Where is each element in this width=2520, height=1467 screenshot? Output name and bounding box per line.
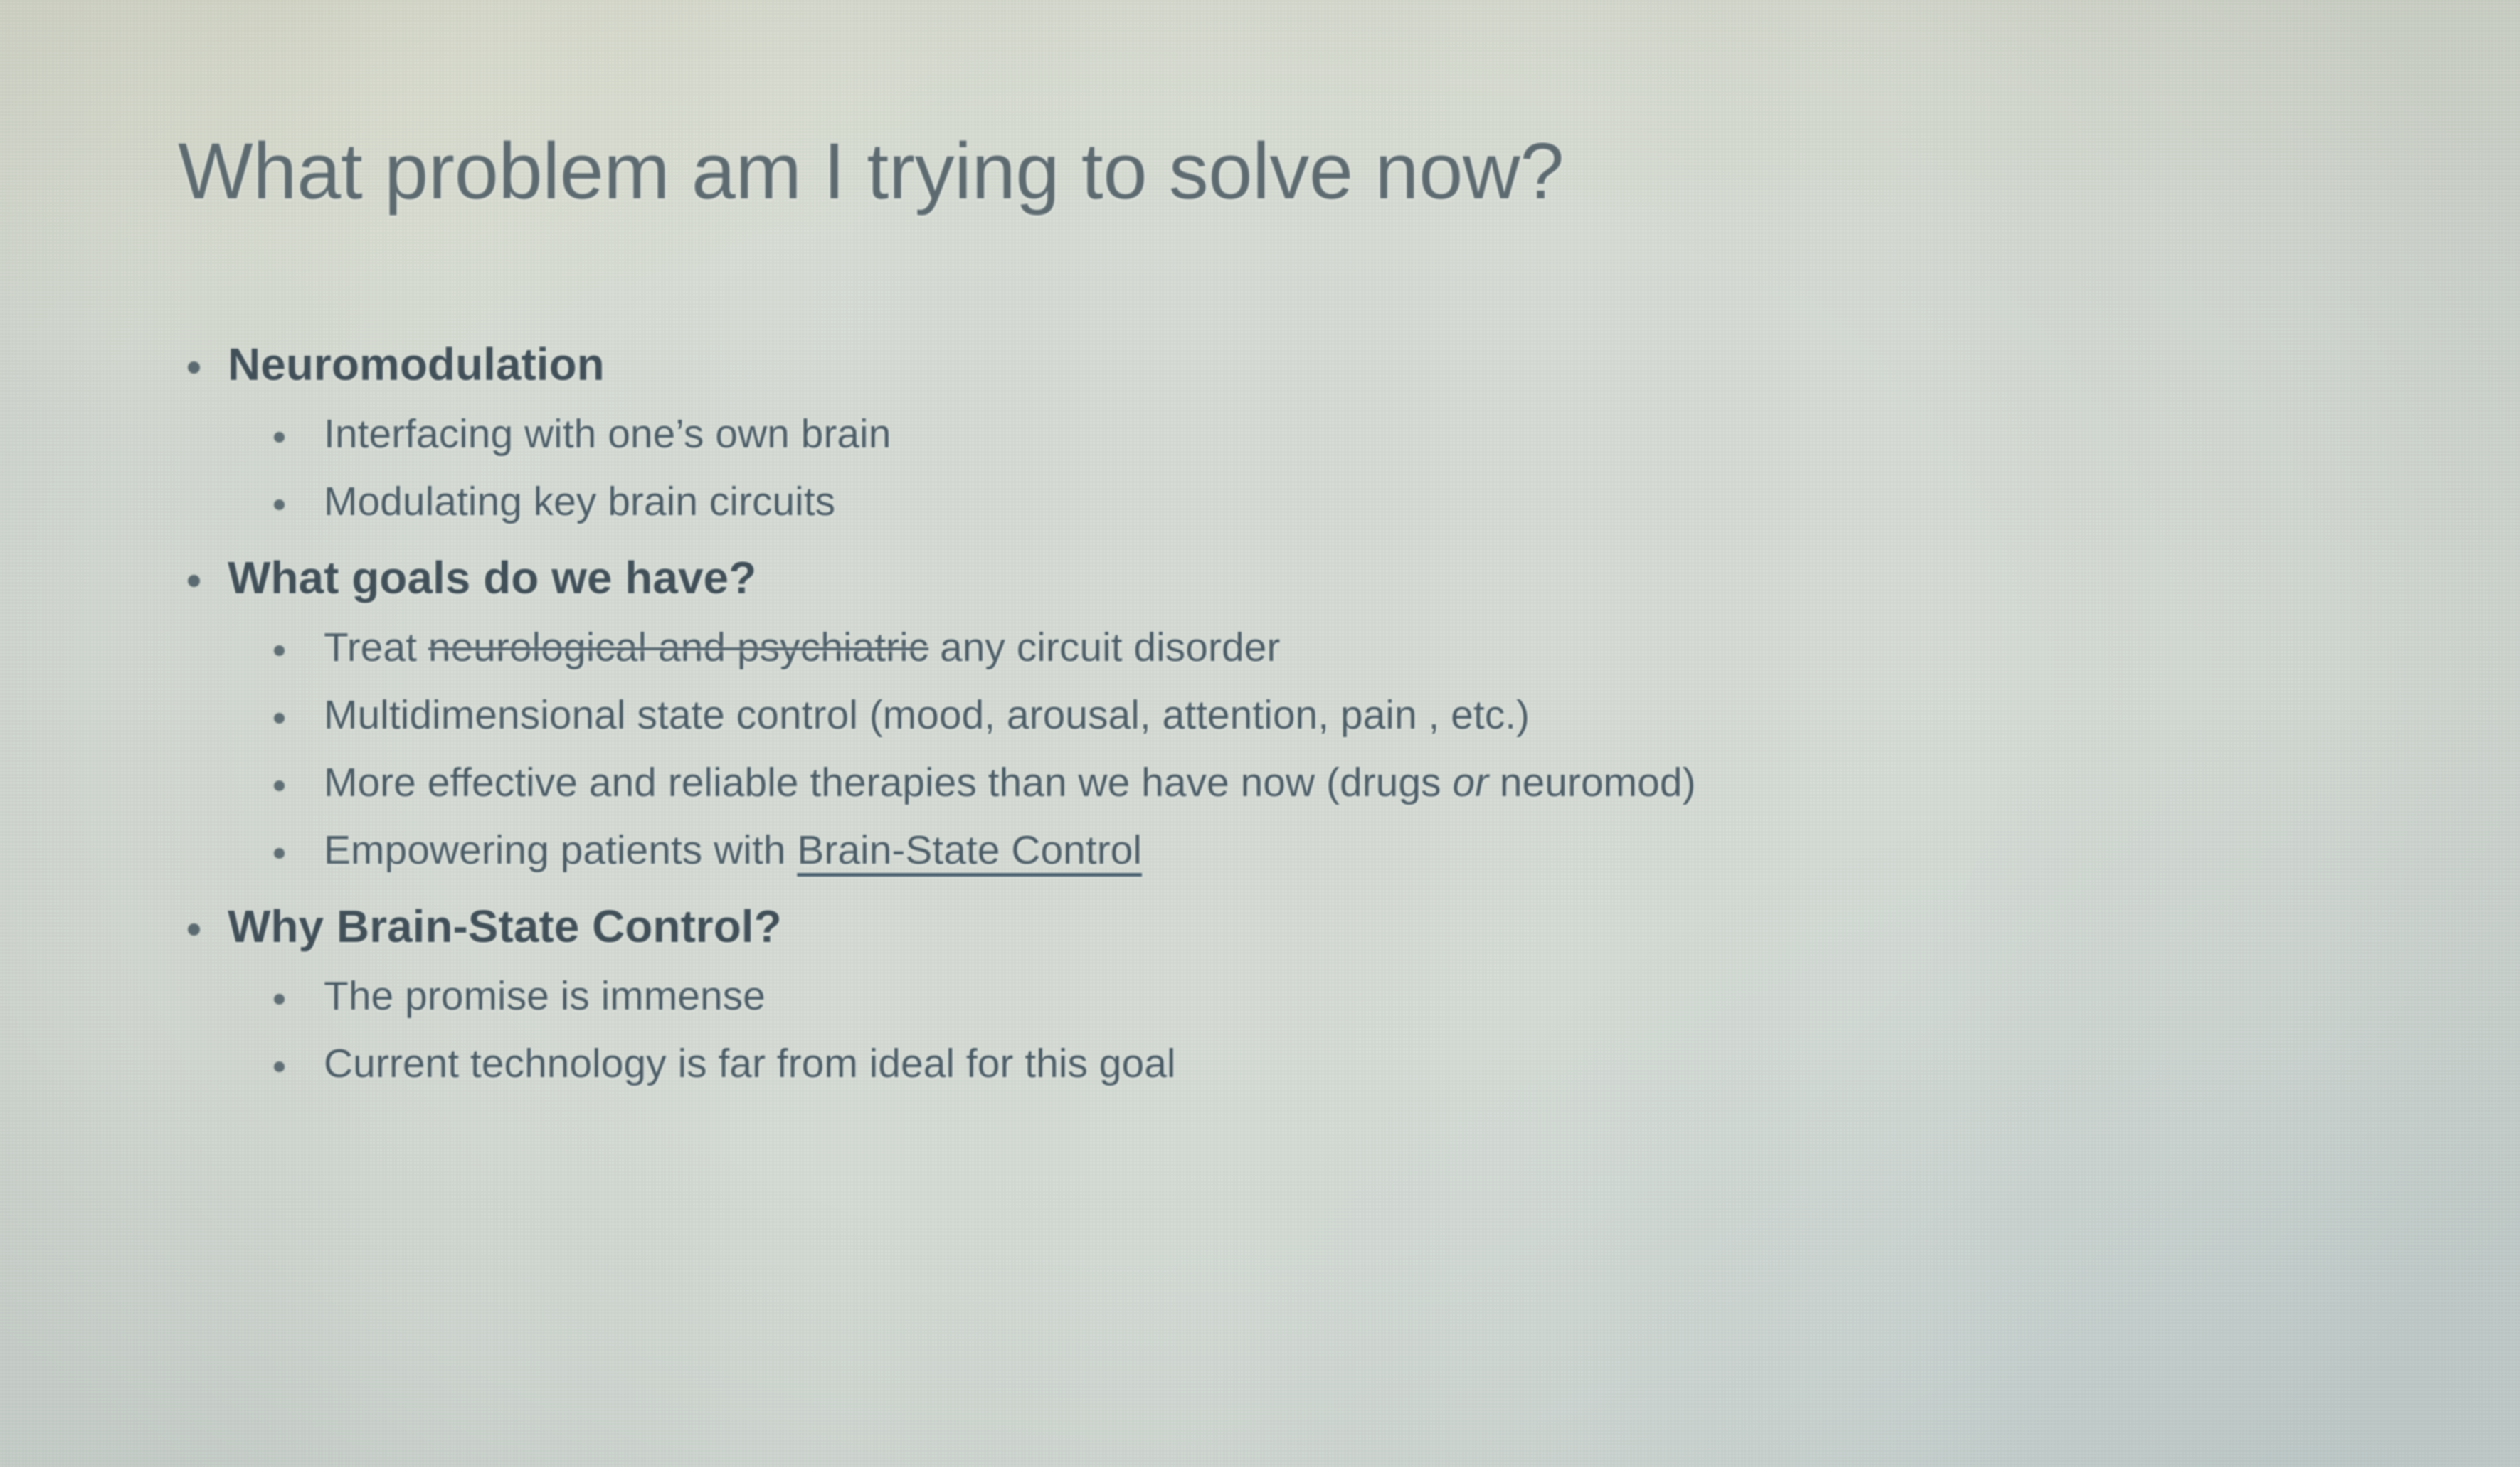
bullet-level1: Why Brain-State Control? [0,904,2520,949]
bullet-dot-icon [188,361,200,374]
bullet-level2: Current technology is far from ideal for… [0,1044,2520,1084]
bullet-group: NeuromodulationInterfacing with one’s ow… [0,341,2520,522]
bullet-level2-text: Treat [324,625,428,670]
bullet-dot-icon [274,1061,285,1072]
bullet-dot-icon [188,575,200,587]
bullet-dot-icon [274,645,285,656]
bullet-level2-text: Current technology is far from ideal for… [324,1041,1176,1086]
slide-title: What problem am I trying to solve now? [178,125,1564,217]
bullet-level2: Modulating key brain circuits [0,482,2520,522]
bullet-dot-icon [274,499,285,510]
bullet-dot-icon [274,780,285,791]
bullet-level2: Empowering patients with Brain-State Con… [0,830,2520,871]
bullet-level2-text: Interfacing with one’s own brain [324,411,891,457]
bullet-dot-icon [274,432,285,443]
emphasis-italic-text: or [1452,760,1488,805]
bullet-level2: Treat neurological and psychiatric any c… [0,627,2520,668]
slide-body-bullet-list: NeuromodulationInterfacing with one’s ow… [0,341,2520,1084]
bullet-dot-icon [274,848,285,859]
presentation-slide-photo: What problem am I trying to solve now? N… [0,0,2520,1467]
bullet-level2-text: Modulating key brain circuits [324,479,835,524]
bullet-level1-label: Neuromodulation [228,339,605,390]
struck-through-text: neurological and psychiatric [428,625,928,670]
bullet-level2-text: neuromod) [1488,760,1696,805]
bullet-group: Why Brain-State Control?The promise is i… [0,904,2520,1084]
bullet-group: What goals do we have?Treat neurological… [0,555,2520,871]
bullet-level2-text: Empowering patients with [324,827,797,873]
bullet-level2: The promise is immense [0,976,2520,1017]
bullet-dot-icon [188,923,200,936]
bullet-level2-text: More effective and reliable therapies th… [324,760,1452,805]
bullet-dot-icon [274,994,285,1005]
bullet-level2: Interfacing with one’s own brain [0,414,2520,455]
bullet-dot-icon [274,713,285,724]
bullet-level2-text: any circuit disorder [928,625,1280,670]
bullet-level1: What goals do we have? [0,555,2520,600]
bullet-level2: Multidimensional state control (mood, ar… [0,695,2520,736]
bullet-level2: More effective and reliable therapies th… [0,763,2520,803]
bullet-level1-label: What goals do we have? [228,552,756,603]
emphasis-underlined-text[interactable]: Brain-State Control [797,827,1142,873]
bullet-level2-text: Multidimensional state control (mood, ar… [324,692,1530,738]
bullet-level2-text: The promise is immense [324,973,766,1019]
slide-content: What problem am I trying to solve now? N… [0,0,2520,1467]
bullet-level1-label: Why Brain-State Control? [228,901,782,952]
bullet-level1: Neuromodulation [0,341,2520,387]
